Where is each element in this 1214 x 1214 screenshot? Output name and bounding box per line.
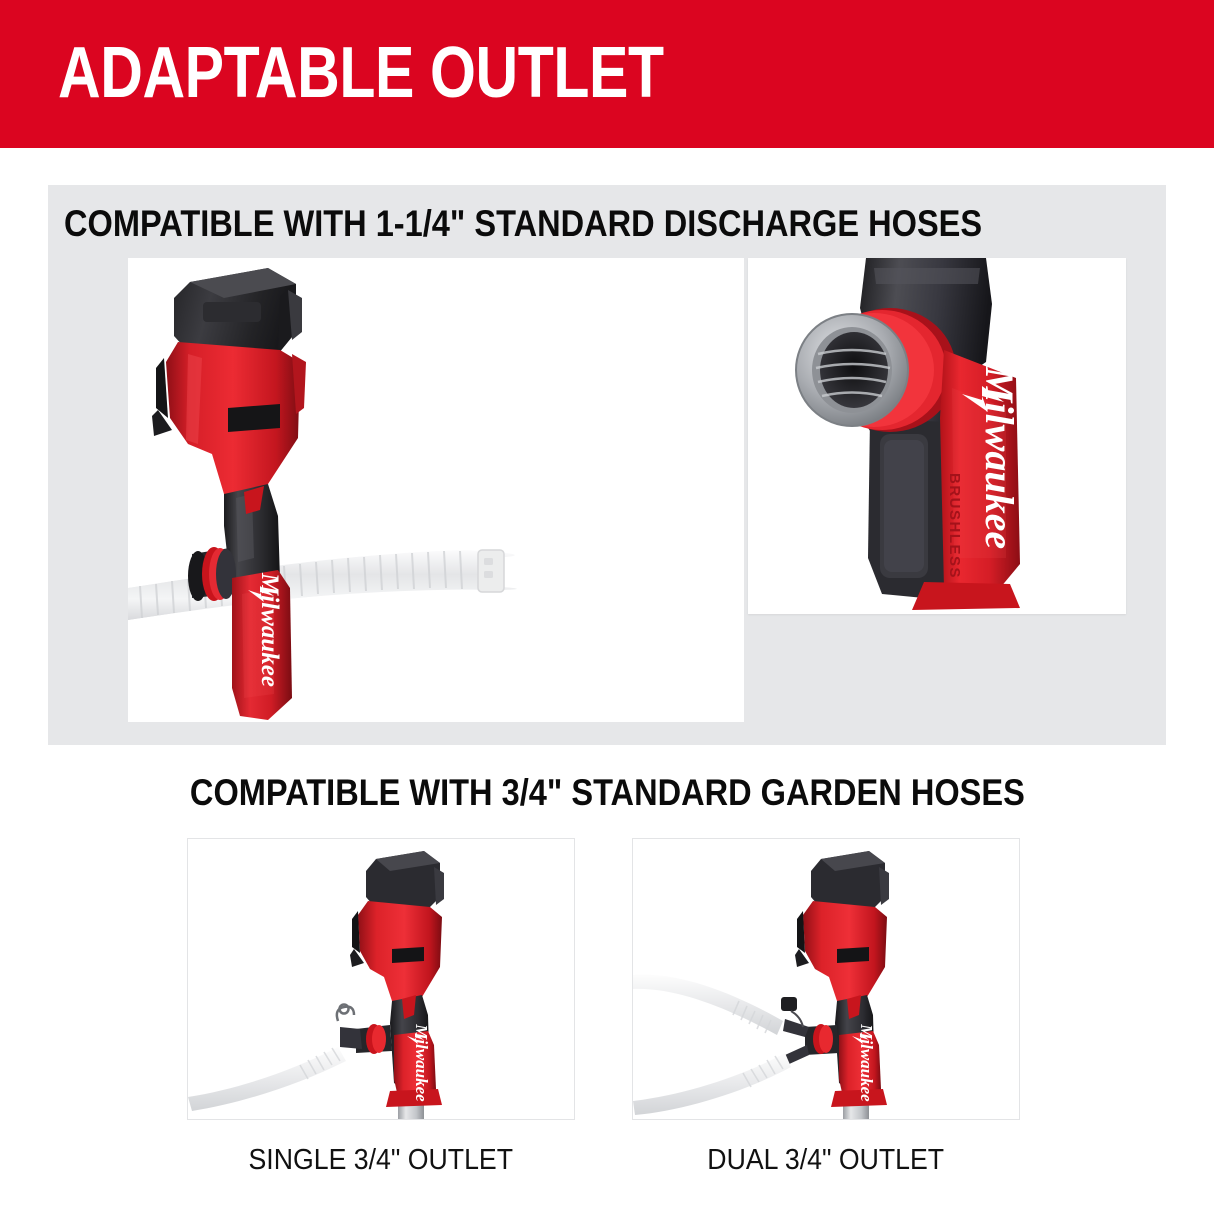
pump-illustration: Milwaukee: [128, 258, 744, 722]
caption-single-outlet: SINGLE 3/4" OUTLET: [187, 1144, 575, 1177]
section-two-title: COMPATIBLE WITH 3/4" STANDARD GARDEN HOS…: [0, 772, 1214, 814]
dual-outlet-image: Milwaukee: [632, 838, 1020, 1120]
garden-hose: [188, 1047, 346, 1111]
dual-outlet-illustration: Milwaukee: [633, 839, 1019, 1119]
discharge-hose-main-image: Milwaukee: [128, 258, 744, 722]
page-title: ADAPTABLE OUTLET: [58, 34, 664, 112]
outlet-port-closeup-image: Milwaukee BRUSHLESS: [748, 258, 1126, 614]
threaded-steel-outlet-port: [796, 314, 908, 426]
red-motor-housing: [795, 901, 887, 1005]
garden-hose-upper: [633, 975, 783, 1035]
svg-text:Milwaukee: Milwaukee: [412, 1023, 431, 1102]
outlet-cap: [781, 997, 797, 1011]
section-one-title: COMPATIBLE WITH 1-1/4" STANDARD DISCHARG…: [64, 203, 982, 245]
svg-text:Milwaukee: Milwaukee: [857, 1023, 876, 1102]
infographic-page: ADAPTABLE OUTLET COMPATIBLE WITH 1-1/4" …: [0, 0, 1214, 1214]
garden-hose-lower: [633, 1053, 791, 1115]
red-motor-housing: [350, 901, 442, 1005]
brushless-badge: BRUSHLESS: [946, 473, 963, 579]
red-motor-housing: [152, 342, 306, 498]
caption-dual-outlet: DUAL 3/4" OUTLET: [632, 1144, 1020, 1177]
svg-text:BRUSHLESS: BRUSHLESS: [946, 473, 963, 579]
corrugated-discharge-hose: [128, 550, 517, 620]
header-banner: ADAPTABLE OUTLET: [0, 0, 1214, 148]
red-pump-head: Milwaukee: [831, 1023, 887, 1107]
outlet-closeup-illustration: Milwaukee BRUSHLESS: [748, 258, 1126, 614]
red-pump-head: Milwaukee: [232, 570, 292, 720]
red-pump-head: Milwaukee: [386, 1023, 442, 1107]
single-garden-hose-adapter: [337, 1005, 392, 1055]
dual-garden-hose-splitter: [781, 997, 839, 1065]
single-outlet-illustration: Milwaukee: [188, 839, 574, 1119]
single-outlet-image: Milwaukee: [187, 838, 575, 1120]
side-outlet-collar: [188, 547, 236, 601]
